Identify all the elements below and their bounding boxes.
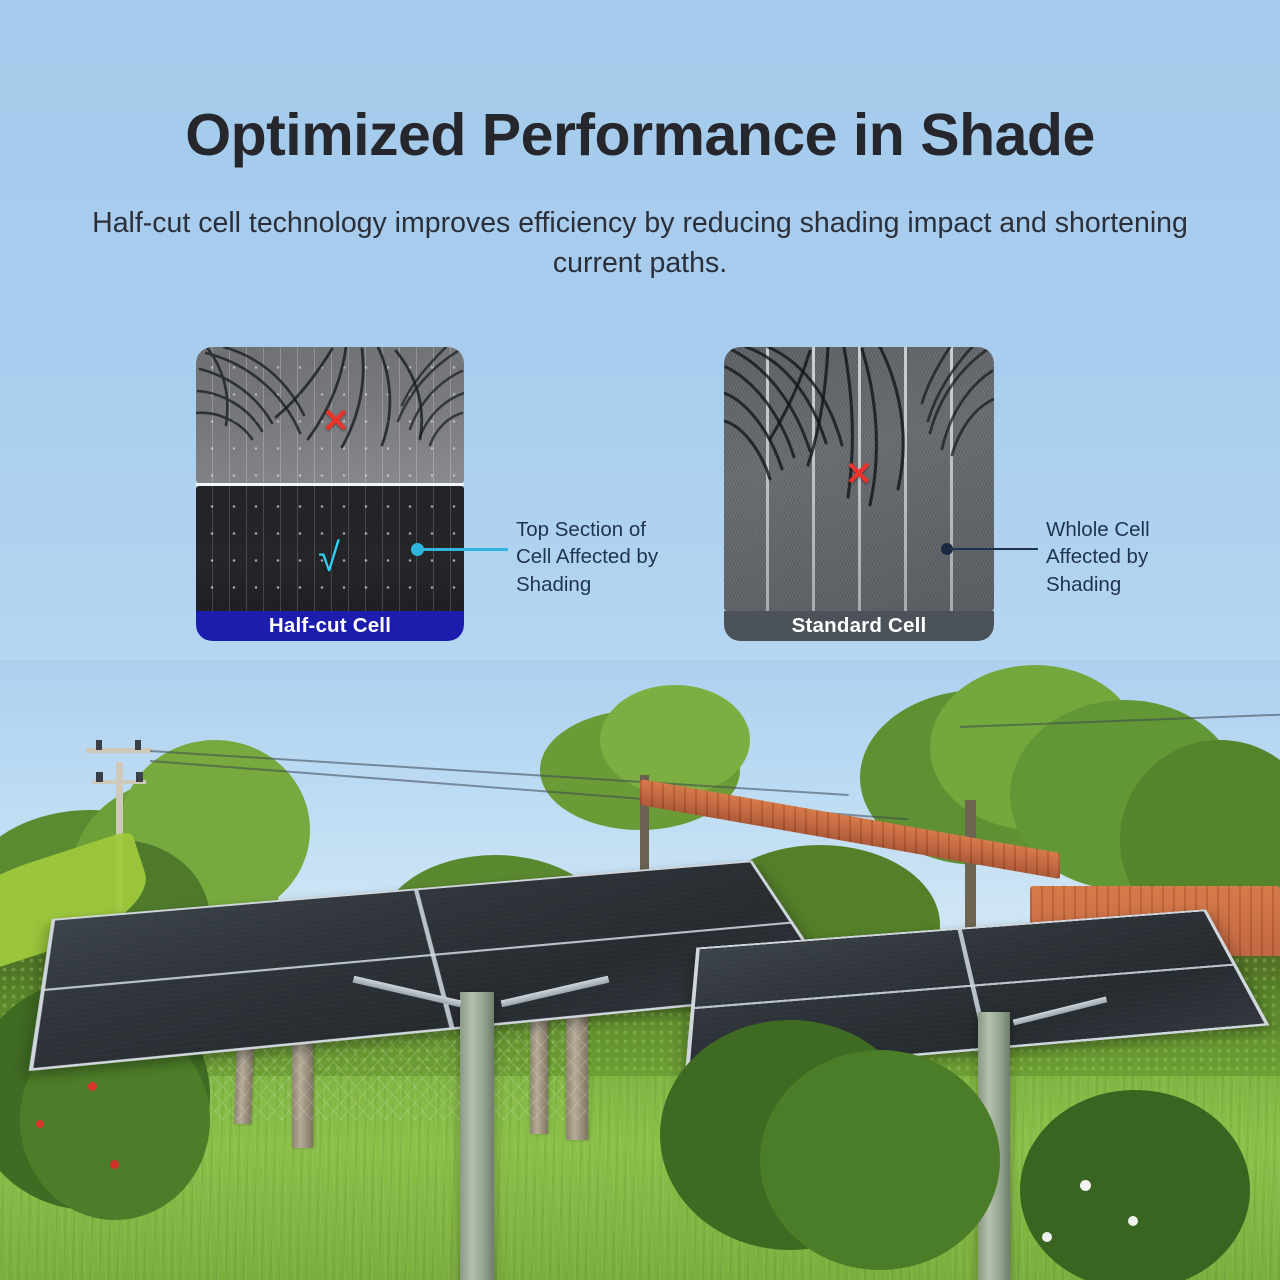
panel-mount-pole-left [460,992,494,1280]
half-cut-cell-label-text: Half-cut Cell [269,614,391,638]
half-cut-cell-label: Half-cut Cell [196,611,464,641]
red-x-mark-half-cut: ✕ [322,404,350,437]
half-cut-callout-text: Top Section of Cell Affected by Shading [516,516,716,598]
standard-cell-surface: ✕ [724,347,994,611]
page-title: Optimized Performance in Shade [0,104,1280,168]
half-cut-cell-card[interactable]: ✕ √ Half-cut Cell [196,347,464,641]
red-x-mark-standard: ✕ [845,457,873,490]
hero-photo [0,620,1280,1280]
standard-callout-text: Whlole Cell Affected by Shading [1046,516,1246,598]
half-cut-top-section: ✕ [196,347,464,483]
half-cut-callout-line [420,548,508,551]
cyan-check-mark-half-cut: √ [318,538,340,578]
page-subtitle: Half-cut cell technology improves effici… [0,203,1280,284]
standard-cell-card[interactable]: ✕ Standard Cell [724,347,994,641]
info-band: Optimized Performance in Shade Half-cut … [0,0,1280,660]
standard-callout-line [950,548,1038,550]
standard-cell-label-text: Standard Cell [792,614,927,638]
standard-cell-label: Standard Cell [724,611,994,641]
page-root: Optimized Performance in Shade Half-cut … [0,0,1280,1280]
